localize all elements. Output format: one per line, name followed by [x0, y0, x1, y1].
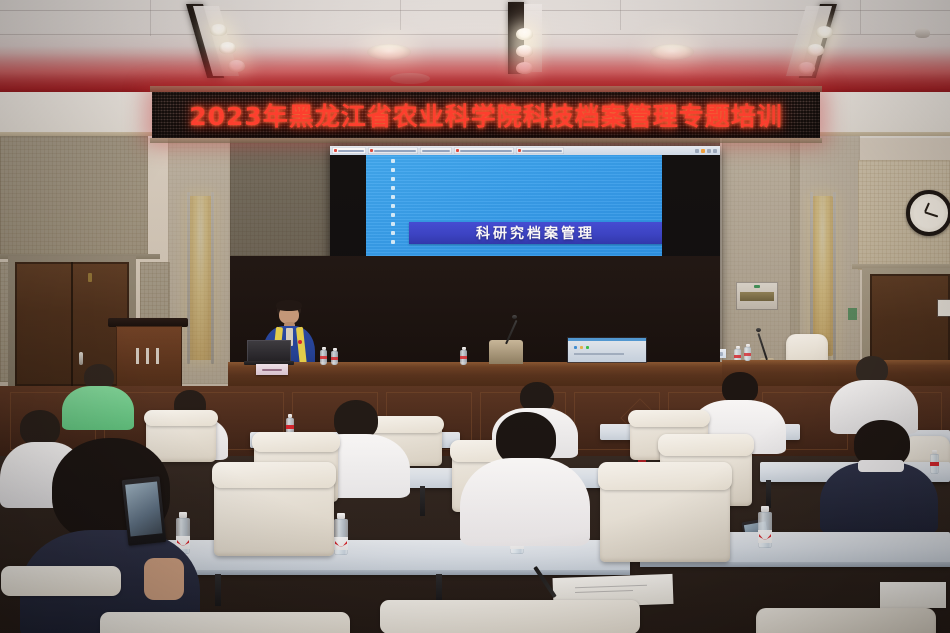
smoke-detector-icon: [915, 28, 930, 38]
slide-title-text: 科研究档案管理: [476, 223, 595, 243]
audience-chair-headrest: [628, 410, 710, 427]
browser-tab[interactable]: [368, 147, 418, 154]
attendee: [820, 420, 938, 530]
attendee: [460, 412, 590, 542]
led-banner-text: 2023年黑龙江省农业科学院科技档案管理专题培训: [189, 97, 783, 133]
water-bottle: [758, 506, 772, 548]
wall-panel: [0, 136, 148, 258]
ceiling-vent: [390, 73, 430, 84]
slide-title-bar: 科研究档案管理: [409, 222, 662, 244]
led-banner: 2023年黑龙江省农业科学院科技档案管理专题培训: [152, 92, 820, 138]
water-bottle: [320, 347, 327, 365]
presenter-laptop-screen: [247, 340, 291, 362]
ceiling-spotlight: [210, 24, 227, 36]
slide-decor-dots: [391, 159, 395, 244]
handout-paper: [880, 582, 946, 608]
browser-menu-icon[interactable]: [695, 149, 699, 153]
ceiling-downlight: [650, 44, 694, 60]
water-bottle: [334, 513, 348, 555]
ceiling-spotlight: [816, 26, 833, 38]
ceiling: [0, 0, 950, 92]
ceiling-spotlight: [516, 45, 533, 57]
door-sign: [938, 300, 950, 316]
audience-chair-headrest: [212, 462, 336, 488]
ceiling-spotlight: [807, 44, 824, 56]
favicon-icon: [456, 149, 459, 152]
ceiling-spotlight: [219, 42, 236, 54]
chair-headrest-foreground: [1, 566, 121, 596]
browser-tab[interactable]: [516, 147, 564, 154]
browser-tab-bar[interactable]: [330, 146, 720, 155]
chair-headrest-foreground: [100, 612, 350, 633]
audience-chair-headrest: [252, 432, 340, 452]
water-bottle: [460, 347, 467, 365]
browser-tab[interactable]: [420, 147, 452, 154]
exit-sign-icon: [848, 308, 857, 320]
wall-clock: [906, 190, 950, 236]
ceiling-spotlight: [228, 60, 245, 72]
microphone-head-icon: [756, 328, 761, 332]
browser-extension-icon[interactable]: [701, 149, 705, 153]
water-bottle: [744, 344, 751, 361]
audience-chair-headrest: [144, 410, 218, 426]
audience-chair-headrest: [658, 434, 754, 456]
attendee-foreground: [20, 438, 200, 633]
ceiling-spotlight: [516, 62, 533, 74]
ceiling-downlight: [367, 44, 411, 60]
minimize-icon[interactable]: [707, 149, 711, 153]
favicon-icon: [370, 149, 373, 152]
conference-room-photo: 2023年黑龙江省农业科学院科技档案管理专题培训: [0, 0, 950, 633]
podium-microphone-head-icon: [512, 315, 517, 319]
favicon-icon: [334, 149, 337, 152]
audience-chair-headrest: [598, 462, 732, 490]
ceiling-spotlight: [516, 28, 533, 40]
confidence-monitor: [568, 338, 646, 362]
favicon-icon: [518, 149, 521, 152]
browser-tab[interactable]: [332, 147, 366, 154]
browser-tab[interactable]: [454, 147, 514, 154]
chair-headrest-foreground: [380, 600, 640, 633]
ceiling-spotlight: [798, 62, 815, 74]
water-bottle: [331, 348, 338, 365]
audience-chair: [756, 608, 936, 633]
smartphone-foreground[interactable]: [122, 476, 167, 546]
close-icon[interactable]: [713, 149, 717, 153]
